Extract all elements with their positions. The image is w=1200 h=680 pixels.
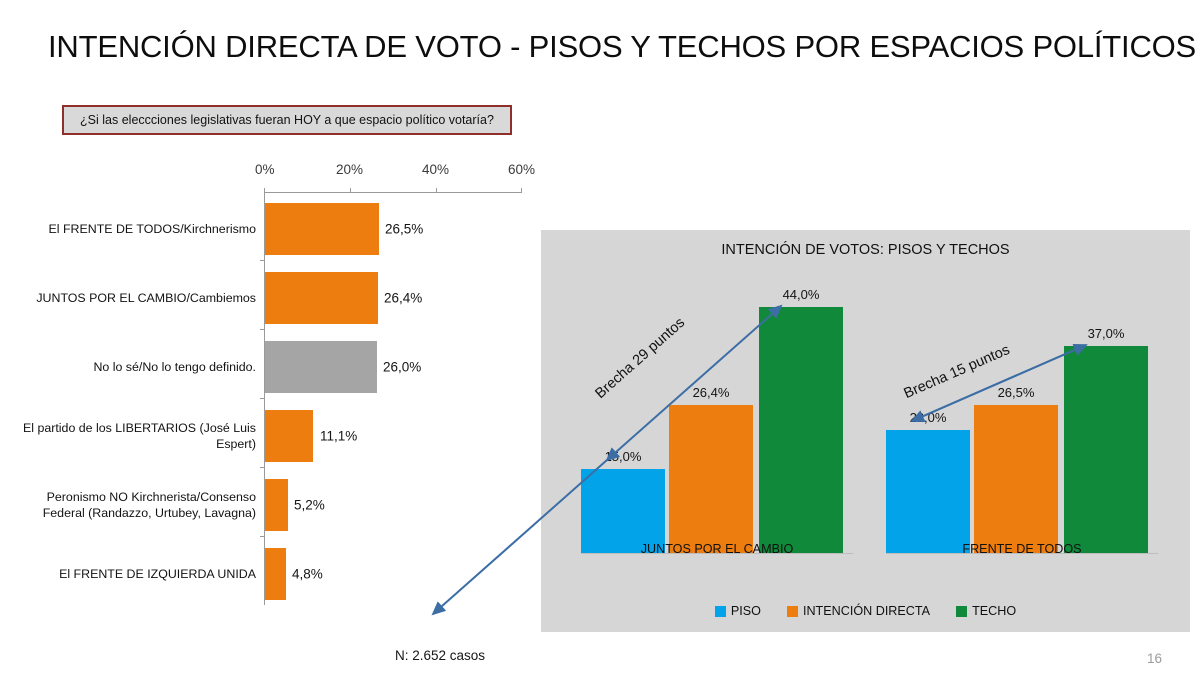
bar-rect <box>265 272 378 324</box>
x-axis-tick-2 <box>436 188 437 193</box>
bar-piso <box>581 469 665 553</box>
bar-row: No lo sé/No lo tengo definido. 26,0% <box>0 333 540 401</box>
bar-row: El FRENTE DE TODOS/Kirchnerismo 26,5% <box>0 195 540 263</box>
x-axis-tick-labels: 0% 20% 40% 60% <box>255 162 540 180</box>
legend-swatch-icon <box>715 606 726 617</box>
bar-category-label: JUNTOS POR EL CAMBIO/Cambiemos <box>6 290 256 306</box>
bar-row: Peronismo NO Kirchnerista/Consenso Feder… <box>0 471 540 539</box>
bar-piso <box>886 430 970 553</box>
x-axis-line <box>264 192 522 193</box>
chart-title: INTENCIÓN DE VOTOS: PISOS Y TECHOS <box>541 242 1190 258</box>
bar-rect <box>265 410 313 462</box>
bar-category-label: Peronismo NO Kirchnerista/Consenso Feder… <box>6 489 256 521</box>
legend-swatch-icon <box>787 606 798 617</box>
bar-value-label: 26,4% <box>384 291 422 306</box>
gap-arrow-icon <box>599 298 789 468</box>
legend-label: TECHO <box>972 604 1016 618</box>
bar-row: El FRENTE DE IZQUIERDA UNIDA 4,8% <box>0 540 540 608</box>
bar-category-label: El partido de los LIBERTARIOS (José Luis… <box>6 420 256 452</box>
bar-group-frente-de-todos: 22,0% 26,5% 37,0% Brecha 15 puntos FRENT… <box>886 288 1158 554</box>
legend-swatch-icon <box>956 606 967 617</box>
bar-row: El partido de los LIBERTARIOS (José Luis… <box>0 402 540 470</box>
bar-value-label: 11,1% <box>320 429 357 444</box>
x-axis-tick-3 <box>521 188 522 193</box>
x-tick-label-1: 20% <box>336 162 363 177</box>
legend-label: INTENCIÓN DIRECTA <box>803 604 930 618</box>
bar-value-label: 26,5% <box>385 222 423 237</box>
horizontal-bar-chart: 0% 20% 40% 60% El FRENTE DE TODOS/Kirchn… <box>0 150 540 630</box>
bar-rect <box>265 203 379 255</box>
group-category-label: JUNTOS POR EL CAMBIO <box>567 542 867 556</box>
bar-category-label: El FRENTE DE TODOS/Kirchnerismo <box>6 221 256 237</box>
grouped-bar-plot-area: 15,0% 26,4% 44,0% Brecha 29 puntos JUNTO… <box>541 266 1190 576</box>
legend-item-techo: TECHO <box>956 604 1016 618</box>
group-category-label: FRENTE DE TODOS <box>872 542 1172 556</box>
bar-rect <box>265 479 288 531</box>
legend-item-intencion-directa: INTENCIÓN DIRECTA <box>787 604 930 618</box>
legend-label: PISO <box>731 604 761 618</box>
x-tick-label-2: 40% <box>422 162 449 177</box>
bar-category-label: El FRENTE DE IZQUIERDA UNIDA <box>6 566 256 582</box>
bar-category-label: No lo sé/No lo tengo definido. <box>6 359 256 375</box>
sample-size-note: N: 2.652 casos <box>330 648 550 663</box>
page-title: INTENCIÓN DIRECTA DE VOTO - PISOS Y TECH… <box>48 28 1158 66</box>
x-axis-tick-1 <box>350 188 351 193</box>
page-number: 16 <box>1147 651 1162 666</box>
bar-rect <box>265 548 286 600</box>
bar-value-label: 5,2% <box>294 498 325 513</box>
question-callout-box: ¿Si las eleccciones legislativas fueran … <box>62 105 512 135</box>
bar-value-label: 26,0% <box>383 360 421 375</box>
bar-row: JUNTOS POR EL CAMBIO/Cambiemos 26,4% <box>0 264 540 332</box>
chart-legend: PISO INTENCIÓN DIRECTA TECHO <box>541 604 1190 618</box>
bar-value-label: 4,8% <box>292 567 323 582</box>
x-tick-label-0: 0% <box>255 162 275 177</box>
x-tick-label-3: 60% <box>508 162 535 177</box>
legend-item-piso: PISO <box>715 604 761 618</box>
bar-rect <box>265 341 377 393</box>
question-text: ¿Si las eleccciones legislativas fueran … <box>80 113 494 127</box>
bar-group-juntos-por-el-cambio: 15,0% 26,4% 44,0% Brecha 29 puntos JUNTO… <box>581 288 853 554</box>
pisos-techos-chart-panel: INTENCIÓN DE VOTOS: PISOS Y TECHOS 15,0%… <box>541 230 1190 632</box>
